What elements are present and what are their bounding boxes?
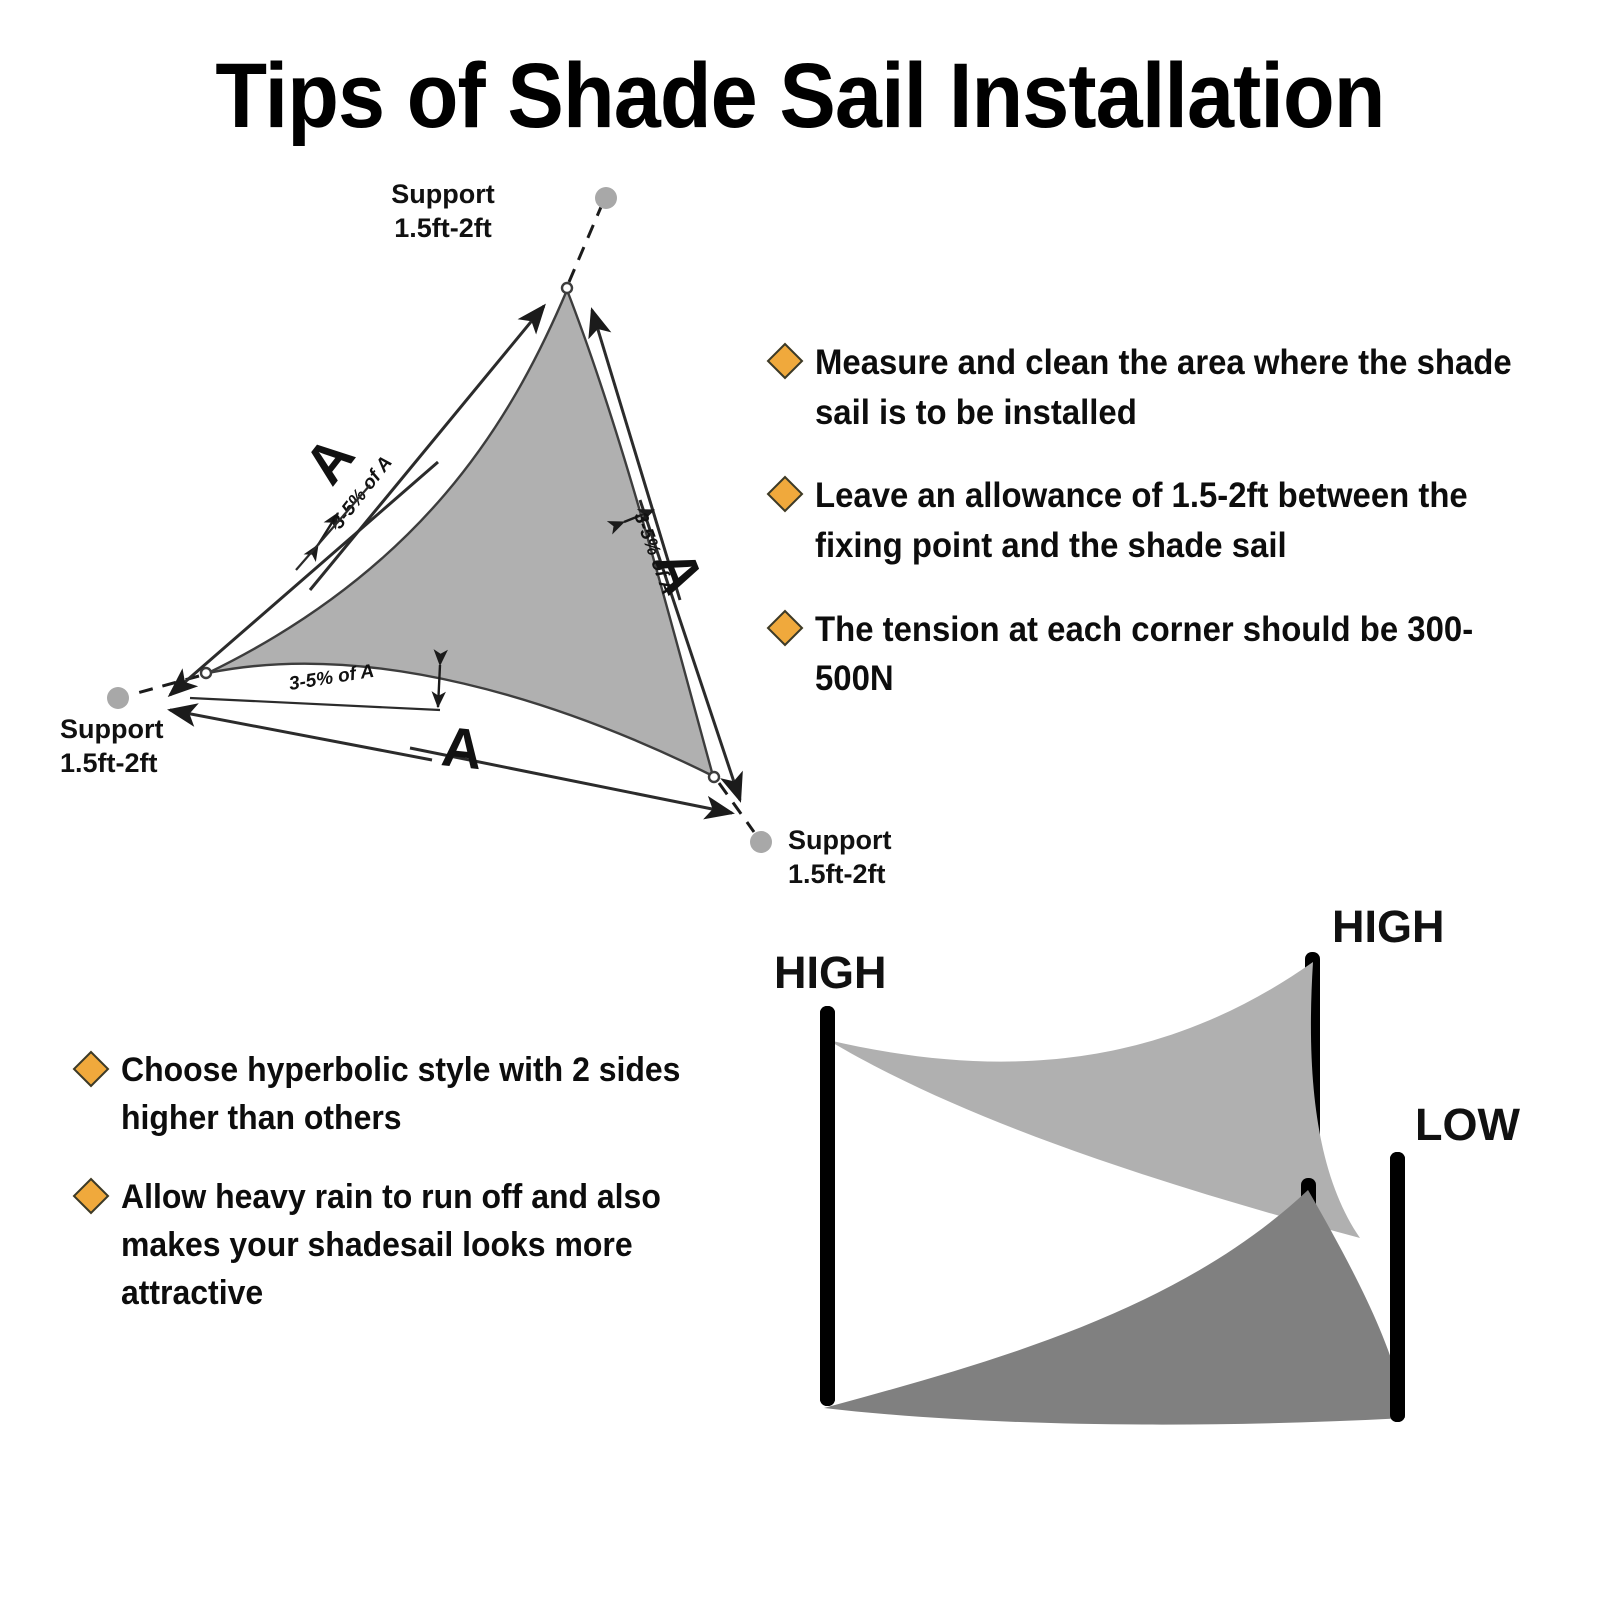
post-left-high-front (820, 1006, 835, 1406)
diamond-bullet-icon (767, 609, 804, 646)
post-label-right-front: LOW (1415, 1099, 1520, 1150)
support-dot-bottom-right (750, 831, 772, 853)
support-dot-left (107, 687, 129, 709)
tip-text: Leave an allowance of 1.5-2ft between th… (815, 471, 1517, 570)
dim-arrow-bottom-left (170, 710, 432, 760)
post-label-right-rear: HIGH (1332, 901, 1445, 952)
support-label-top-line2: 1.5ft-2ft (394, 213, 492, 243)
ground-shadow (824, 1190, 1405, 1425)
eyelet-left (201, 668, 211, 678)
tips-bullet-list: Measure and clean the area where the sha… (772, 338, 1562, 738)
style-tip-text: Choose hyperbolic style with 2 sides hig… (121, 1046, 757, 1143)
list-item: Allow heavy rain to run off and also mak… (78, 1173, 798, 1318)
page-title: Tips of Shade Sail Installation (64, 44, 1536, 149)
support-label-left-line1: Support (60, 714, 163, 744)
post-label-left: HIGH (774, 947, 887, 998)
support-label-left-line2: 1.5ft-2ft (60, 748, 158, 778)
side-label-bottom: A (439, 714, 486, 781)
list-item: The tension at each corner should be 300… (772, 605, 1562, 704)
tip-text: The tension at each corner should be 300… (815, 605, 1517, 704)
diamond-bullet-icon (73, 1177, 110, 1214)
eyelet-bottom-right (709, 772, 719, 782)
diamond-bullet-icon (73, 1051, 110, 1088)
list-item: Choose hyperbolic style with 2 sides hig… (78, 1046, 798, 1143)
curve-label-bottom: 3-5% of A (287, 661, 375, 695)
sail-canopy (828, 962, 1360, 1238)
support-label-top: Support 1.5ft-2ft (391, 179, 494, 243)
support-label-br-line2: 1.5ft-2ft (788, 859, 886, 889)
chord-ref-left (296, 485, 370, 570)
support-lead-top (569, 207, 601, 282)
style-bullet-list: Choose hyperbolic style with 2 sides hig… (78, 1046, 798, 1347)
support-label-bottom-right: Support 1.5ft-2ft (788, 825, 891, 889)
chord-ref-bottom (190, 698, 440, 710)
style-tip-text: Allow heavy rain to run off and also mak… (121, 1173, 757, 1318)
eyelet-top (562, 283, 572, 293)
post-right-low-front (1390, 1152, 1405, 1422)
support-label-br-line1: Support (788, 825, 891, 855)
diamond-bullet-icon (767, 343, 804, 380)
list-item: Leave an allowance of 1.5-2ft between th… (772, 471, 1562, 570)
support-dot-top (595, 187, 617, 209)
list-item: Measure and clean the area where the sha… (772, 338, 1562, 437)
support-label-top-line1: Support (391, 179, 494, 209)
hyperbolic-sail-diagram: HIGH HIGH LOW (760, 890, 1590, 1530)
diamond-bullet-icon (767, 476, 804, 513)
support-label-bottom-left: Support 1.5ft-2ft (60, 714, 163, 778)
tip-text: Measure and clean the area where the sha… (815, 338, 1517, 437)
